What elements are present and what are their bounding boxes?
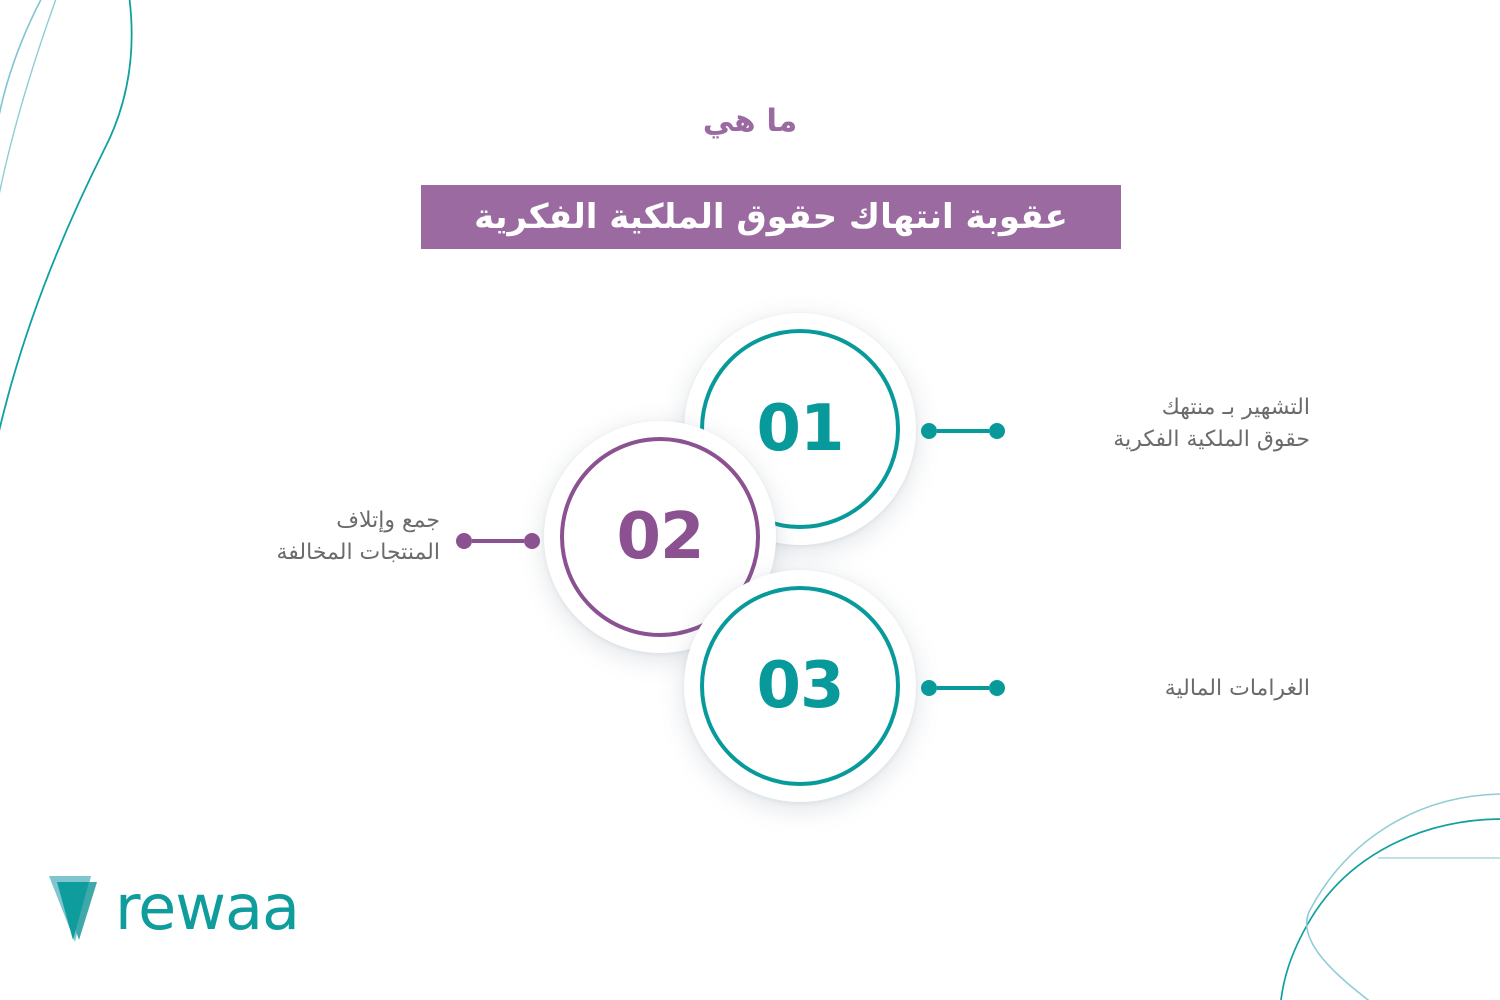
- connector-line-03: [937, 686, 989, 690]
- node-label-03: الغرامات المالية: [1020, 673, 1310, 705]
- connector-dot-inner-03: [921, 680, 937, 696]
- connector-dot-inner-01: [921, 423, 937, 439]
- node-label-01-line-2: حقوق الملكية الفكرية: [1020, 424, 1310, 456]
- deco-curve-topleft-thin: [0, 0, 60, 200]
- node-number-03: 03: [700, 586, 900, 786]
- node-label-03-line-1: الغرامات المالية: [1020, 673, 1310, 705]
- deco-arc-bottomright-inner: [1280, 819, 1500, 1000]
- deco-curve-topleft-inner: [0, 0, 132, 600]
- rewaa-logo: rewaa: [45, 868, 320, 948]
- page-eyebrow: ما هي: [0, 103, 1500, 139]
- connector-dot-outer-03: [989, 680, 1005, 696]
- connector-line-01: [937, 429, 989, 433]
- title-banner: عقوبة انتهاك حقوق الملكية الفكرية: [421, 185, 1121, 249]
- node-label-01: التشهير بـ منتهك حقوق الملكية الفكرية: [1020, 392, 1310, 456]
- node-label-02-line-2: المنتجات المخالفة: [150, 537, 440, 569]
- rewaa-triangle-mark-icon: [45, 870, 113, 946]
- node-label-01-line-1: التشهير بـ منتهك: [1020, 392, 1310, 424]
- connector-dot-outer-01: [989, 423, 1005, 439]
- deco-arc-bottomright-outer: [1307, 794, 1500, 1000]
- connector-03: [921, 680, 1005, 696]
- rewaa-wordmark: rewaa: [115, 877, 299, 939]
- connector-01: [921, 423, 1005, 439]
- connector-line-02: [472, 539, 524, 543]
- page-title: عقوبة انتهاك حقوق الملكية الفكرية: [474, 200, 1068, 234]
- node-label-02-line-1: جمع وإتلاف: [150, 505, 440, 537]
- connector-dot-inner-02: [524, 533, 540, 549]
- connector-02: [456, 533, 540, 549]
- connector-dot-outer-02: [456, 533, 472, 549]
- node-label-02: جمع وإتلاف المنتجات المخالفة: [150, 505, 440, 569]
- infographic-canvas: ما هي عقوبة انتهاك حقوق الملكية الفكرية …: [0, 0, 1500, 1000]
